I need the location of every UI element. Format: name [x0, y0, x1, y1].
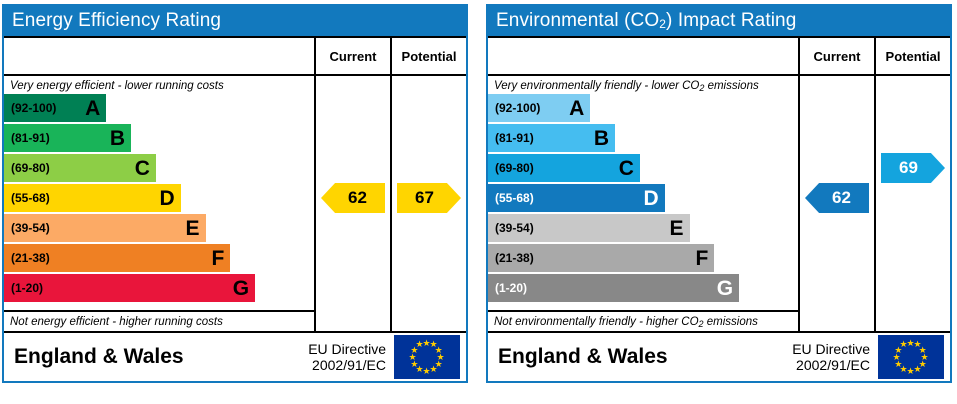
- band-c: (69-80) C: [488, 154, 640, 182]
- current-rating-arrow: 62: [805, 183, 869, 213]
- band-column: Very energy efficient - lower running co…: [4, 76, 316, 331]
- band-letter: G: [717, 278, 733, 299]
- header-current: Current: [800, 38, 876, 74]
- header-potential: Potential: [392, 38, 466, 74]
- band-range: (39-54): [495, 221, 534, 235]
- band-f: (21-38) F: [488, 244, 714, 272]
- column-header-row: Current Potential: [4, 36, 466, 76]
- chart-body: Very environmentally friendly - lower CO…: [488, 76, 950, 331]
- band-b: (81-91) B: [4, 124, 131, 152]
- header-potential: Potential: [876, 38, 950, 74]
- band-e: (39-54) E: [488, 214, 690, 242]
- band-f: (21-38) F: [4, 244, 230, 272]
- band-letter: E: [185, 218, 199, 239]
- band-range: (1-20): [495, 281, 527, 295]
- band-range: (21-38): [495, 251, 534, 265]
- band-g: (1-20) G: [4, 274, 255, 302]
- directive-line-2: 2002/91/EC: [792, 357, 870, 373]
- band-letter: B: [110, 128, 125, 149]
- band-range: (39-54): [11, 221, 50, 235]
- top-note: Very environmentally friendly - lower CO…: [488, 76, 798, 93]
- chart-body: Very energy efficient - lower running co…: [4, 76, 466, 331]
- band-range: (92-100): [11, 101, 56, 115]
- current-rating-arrow: 62: [321, 183, 385, 213]
- eu-directive-label: EU Directive 2002/91/EC: [792, 341, 878, 373]
- header-spacer: [4, 38, 316, 74]
- band-range: (21-38): [11, 251, 50, 265]
- band-letter: D: [644, 188, 659, 209]
- potential-column: 67: [392, 76, 466, 331]
- current-rating-value: 62: [805, 188, 869, 208]
- band-letter: G: [233, 278, 249, 299]
- band-e: (39-54) E: [4, 214, 206, 242]
- band-letter: B: [594, 128, 609, 149]
- bottom-note: Not energy efficient - higher running co…: [4, 310, 314, 331]
- band-a: (92-100) A: [4, 94, 106, 122]
- region-label: England & Wales: [4, 345, 308, 369]
- band-letter: A: [85, 98, 100, 119]
- band-range: (69-80): [495, 161, 534, 175]
- epc-chart-energy: Energy Efficiency Rating Current Potenti…: [2, 4, 468, 383]
- band-letter: F: [211, 248, 224, 269]
- band-range: (81-91): [11, 131, 50, 145]
- eu-flag-icon: ★★★★★★★★★★★★: [394, 335, 460, 379]
- band-letter: C: [135, 158, 150, 179]
- current-column: 62: [316, 76, 392, 331]
- band-letter: A: [569, 98, 584, 119]
- band-column: Very environmentally friendly - lower CO…: [488, 76, 800, 331]
- band-g: (1-20) G: [488, 274, 739, 302]
- band-range: (92-100): [495, 101, 540, 115]
- band-d: (55-68) D: [4, 184, 181, 212]
- current-rating-value: 62: [321, 188, 385, 208]
- epc-chart-co2: Environmental (CO2) Impact Rating Curren…: [486, 4, 952, 383]
- header-current: Current: [316, 38, 392, 74]
- band-list: (92-100) A (81-91) B (69-80) C (55-68) D…: [4, 93, 314, 310]
- band-list: (92-100) A (81-91) B (69-80) C (55-68) D…: [488, 93, 798, 310]
- chart-title: Environmental (CO2) Impact Rating: [488, 6, 950, 36]
- band-c: (69-80) C: [4, 154, 156, 182]
- band-d: (55-68) D: [488, 184, 665, 212]
- band-a: (92-100) A: [488, 94, 590, 122]
- chart-footer: England & Wales EU Directive 2002/91/EC …: [488, 331, 950, 381]
- potential-rating-value: 67: [397, 188, 461, 208]
- region-label: England & Wales: [488, 345, 792, 369]
- epc-charts-container: Energy Efficiency Rating Current Potenti…: [0, 0, 957, 383]
- band-range: (55-68): [11, 191, 50, 205]
- band-letter: F: [695, 248, 708, 269]
- band-letter: E: [669, 218, 683, 239]
- potential-rating-value: 69: [881, 158, 945, 178]
- header-spacer: [488, 38, 800, 74]
- chart-footer: England & Wales EU Directive 2002/91/EC …: [4, 331, 466, 381]
- band-range: (1-20): [11, 281, 43, 295]
- eu-flag-icon: ★★★★★★★★★★★★: [878, 335, 944, 379]
- band-letter: C: [619, 158, 634, 179]
- potential-rating-arrow: 69: [881, 153, 945, 183]
- band-range: (69-80): [11, 161, 50, 175]
- band-letter: D: [160, 188, 175, 209]
- band-range: (81-91): [495, 131, 534, 145]
- chart-title: Energy Efficiency Rating: [4, 6, 466, 36]
- column-header-row: Current Potential: [488, 36, 950, 76]
- eu-directive-label: EU Directive 2002/91/EC: [308, 341, 394, 373]
- potential-rating-arrow: 67: [397, 183, 461, 213]
- directive-line-1: EU Directive: [308, 341, 386, 357]
- directive-line-2: 2002/91/EC: [308, 357, 386, 373]
- directive-line-1: EU Directive: [792, 341, 870, 357]
- current-column: 62: [800, 76, 876, 331]
- bottom-note: Not environmentally friendly - higher CO…: [488, 310, 798, 331]
- top-note: Very energy efficient - lower running co…: [4, 76, 314, 93]
- potential-column: 69: [876, 76, 950, 331]
- band-b: (81-91) B: [488, 124, 615, 152]
- band-range: (55-68): [495, 191, 534, 205]
